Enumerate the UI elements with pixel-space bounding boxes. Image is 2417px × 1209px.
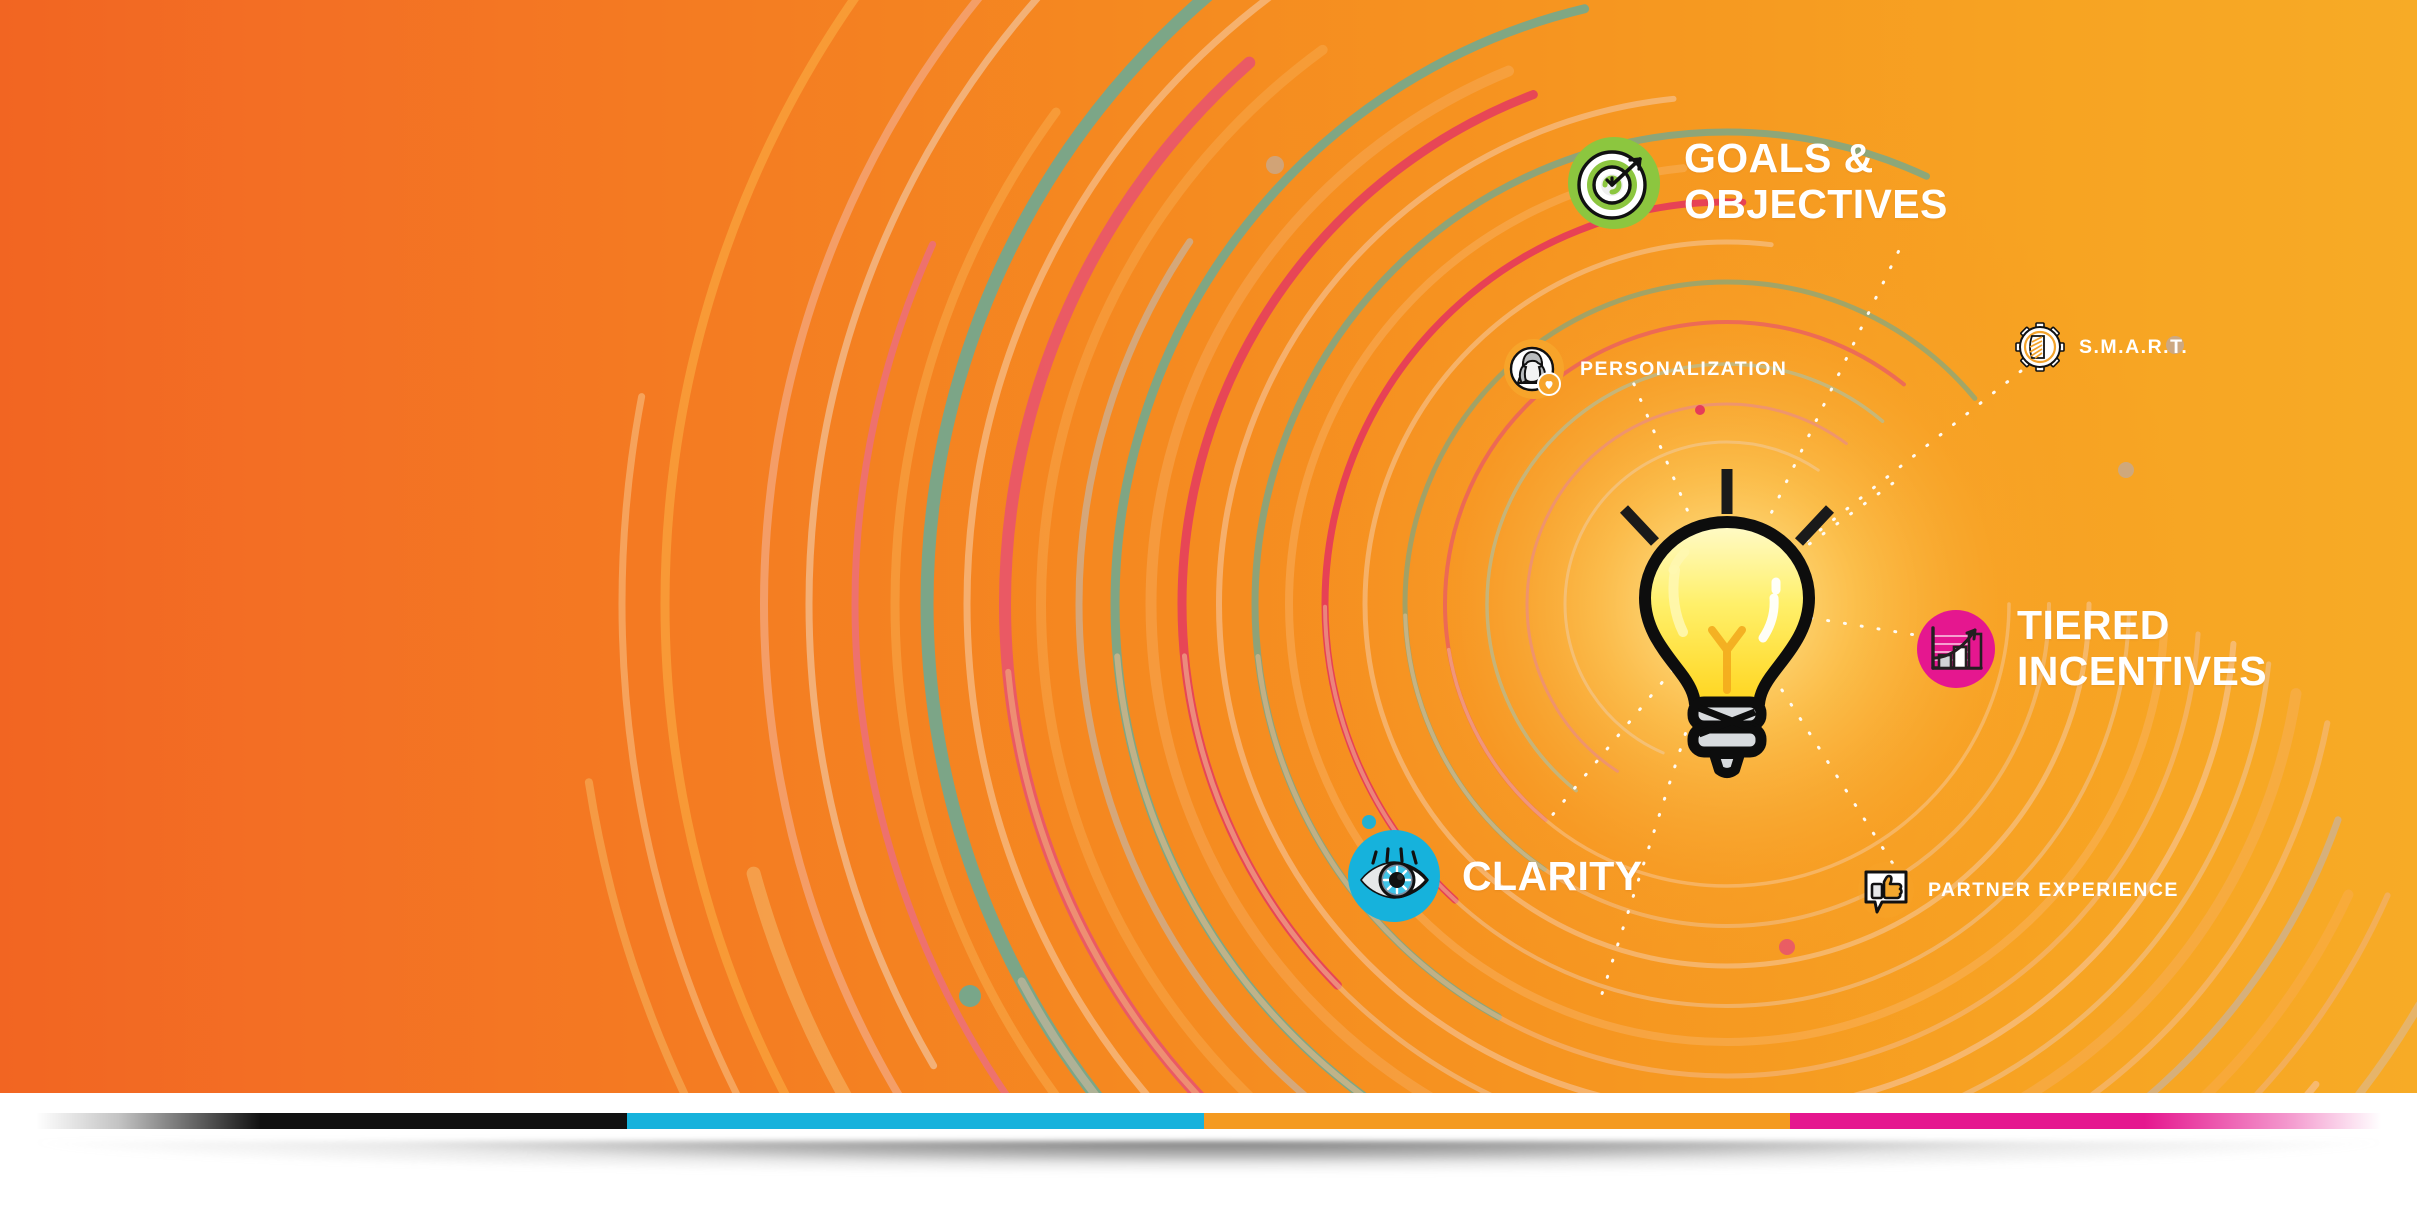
node-goals-label: GOALS & OBJECTIVES — [1684, 135, 1948, 227]
footer-area — [0, 1093, 2417, 1209]
eye-icon — [1348, 830, 1440, 922]
node-clarity-label: CLARITY — [1462, 853, 1642, 899]
orange-background-panel: GOALS & OBJECTIVES PERSONALIZATION — [0, 0, 2417, 1093]
concentric-rings-artwork — [0, 0, 2417, 1093]
target-bullseye-icon — [1568, 137, 1660, 229]
slide-drop-shadow — [28, 1141, 2389, 1207]
color-bar-segment-magenta — [1790, 1113, 2381, 1129]
thumbs-up-speech-bubble-icon — [1858, 862, 1914, 918]
node-tiered-label: TIERED INCENTIVES — [2017, 602, 2267, 694]
color-bar-segment-orange — [1204, 1113, 1790, 1129]
node-goals-objectives[interactable]: GOALS & OBJECTIVES — [1568, 137, 1948, 229]
color-bar-segment-black — [36, 1113, 627, 1129]
node-tiered-incentives[interactable]: TIERED INCENTIVES — [1917, 604, 2267, 694]
node-personalization-label: PERSONALIZATION — [1580, 358, 1787, 380]
node-partner-experience[interactable]: PARTNER EXPERIENCE — [1858, 862, 2179, 918]
gear-cog-icon — [2015, 322, 2065, 372]
node-smart-label: S.M.A.R.T. — [2079, 336, 2188, 358]
color-bar-segment-cyan — [627, 1113, 1204, 1129]
brand-color-bar — [36, 1113, 2381, 1129]
node-partner-label: PARTNER EXPERIENCE — [1928, 879, 2179, 901]
bar-chart-growth-icon — [1917, 610, 1995, 688]
node-clarity[interactable]: CLARITY — [1348, 830, 1642, 922]
slide-canvas: GOALS & OBJECTIVES PERSONALIZATION — [0, 0, 2417, 1209]
user-heart-icon — [1504, 339, 1564, 399]
node-smart[interactable]: S.M.A.R.T. — [2015, 322, 2188, 372]
node-personalization[interactable]: PERSONALIZATION — [1504, 339, 1787, 399]
